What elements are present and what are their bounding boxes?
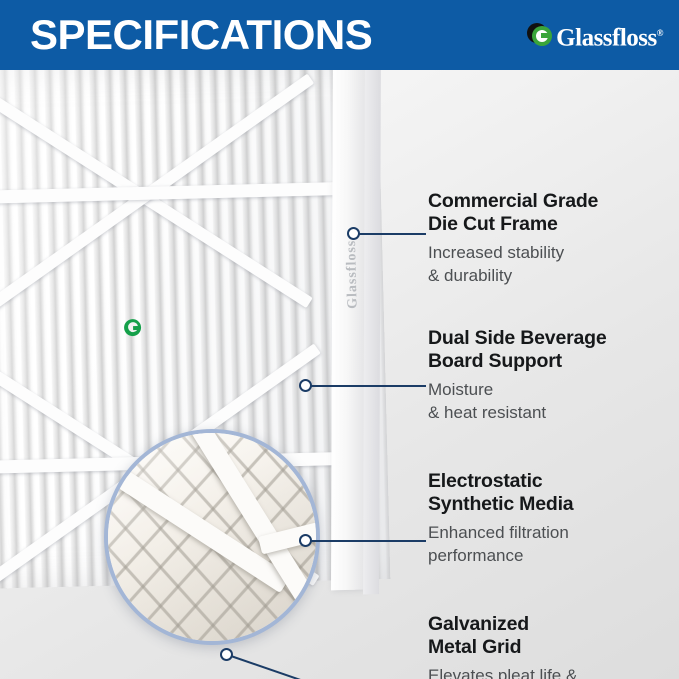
callout-subtitle: Moisture & heat resistant [428, 378, 678, 424]
brand-logo: Glassfloss® [527, 22, 663, 50]
callout-marker-1 [347, 227, 360, 240]
filter-frame-right-edge [331, 70, 367, 590]
callout-subtitle: Elevates pleat life & holding capacity [428, 664, 678, 679]
filter-frame-right-face [363, 70, 381, 595]
frame-watermark-text: Glassfloss [344, 240, 362, 309]
content-stage: Glassfloss Commercial Grade Die Cut Fram… [0, 70, 679, 679]
leader-line-3 [306, 540, 426, 542]
callout-subtitle: Increased stability & durability [428, 241, 678, 287]
callout-electrostatic-synthetic-media: Electrostatic Synthetic Media Enhanced f… [428, 470, 678, 567]
specifications-infographic: SPECIFICATIONS Glassfloss® [0, 0, 679, 679]
leader-line-2 [306, 385, 426, 387]
magnified-media-inset [104, 429, 320, 645]
callout-title: Electrostatic Synthetic Media [428, 470, 678, 516]
callout-galvanized-metal-grid: Galvanized Metal Grid Elevates pleat lif… [428, 613, 678, 679]
callout-marker-3 [299, 534, 312, 547]
leader-line-1 [354, 233, 426, 235]
brand-logo-trademark: ® [657, 28, 663, 38]
callout-title: Commercial Grade Die Cut Frame [428, 190, 678, 236]
header-bar: SPECIFICATIONS Glassfloss® [0, 0, 679, 70]
glassfloss-g-icon [527, 23, 553, 49]
callout-dual-side-beverage-board-support: Dual Side Beverage Board Support Moistur… [428, 327, 678, 424]
page-title: SPECIFICATIONS [30, 10, 372, 60]
leader-line-4-angled [228, 654, 338, 679]
brand-logo-text: Glassfloss® [556, 20, 663, 51]
callout-title: Dual Side Beverage Board Support [428, 327, 678, 373]
callout-title: Galvanized Metal Grid [428, 613, 678, 659]
callout-commercial-grade-die-cut-frame: Commercial Grade Die Cut Frame Increased… [428, 190, 678, 287]
callout-marker-2 [299, 379, 312, 392]
brand-logo-name: Glassfloss [556, 25, 657, 52]
callout-subtitle: Enhanced filtration performance [428, 521, 678, 567]
callout-marker-4 [220, 648, 233, 661]
